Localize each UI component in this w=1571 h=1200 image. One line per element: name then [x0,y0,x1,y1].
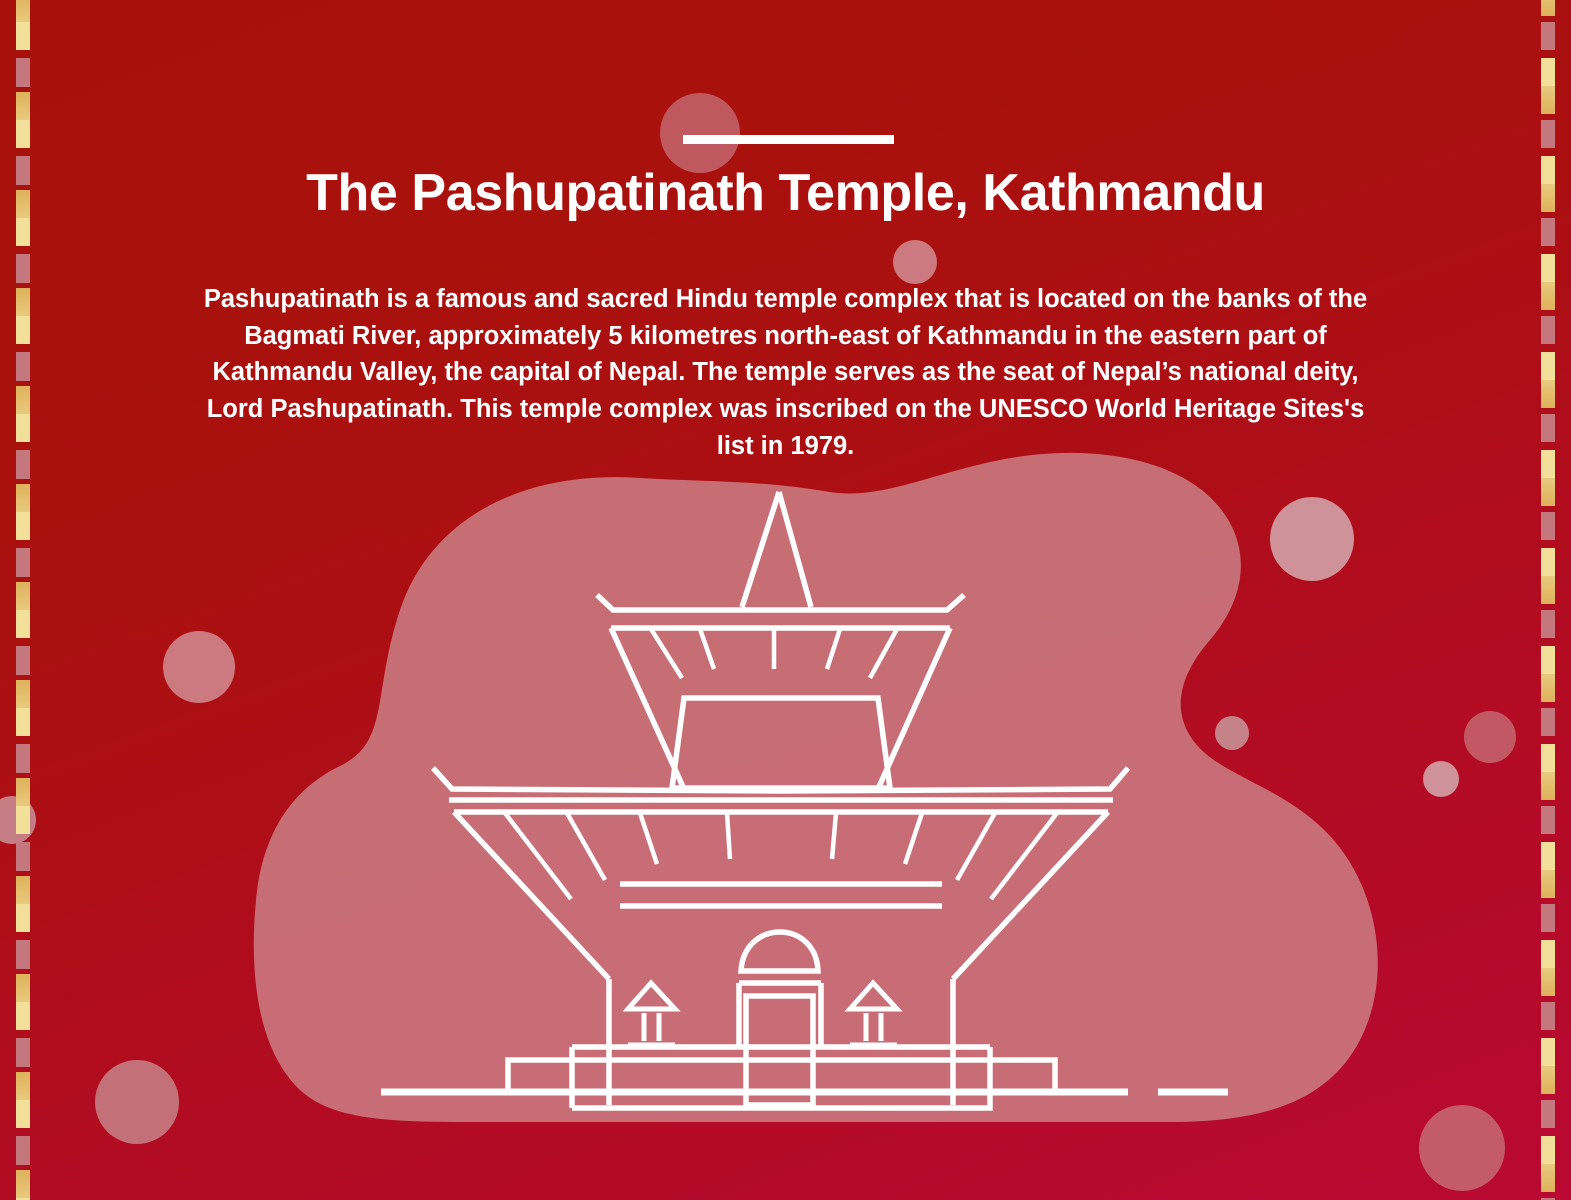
title-divider [683,135,894,144]
poster-description: Pashupatinath is a famous and sacred Hin… [190,281,1381,465]
page-title: The Pashupatinath Temple, Kathmandu [0,164,1571,224]
poster-canvas: The Pashupatinath Temple, Kathmandu Pash… [0,0,1571,1200]
